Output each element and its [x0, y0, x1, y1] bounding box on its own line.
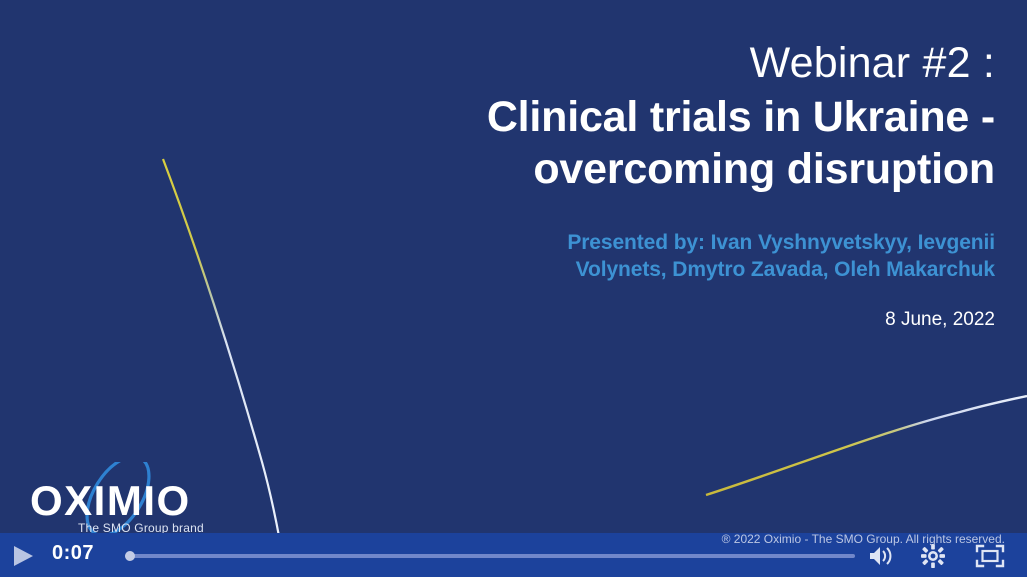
fullscreen-button[interactable] — [975, 544, 1001, 568]
copyright-notice: ® 2022 Oximio - The SMO Group. All right… — [722, 532, 1005, 546]
video-player: Webinar #2 : Clinical trials in Ukraine … — [0, 0, 1027, 577]
volume-button[interactable] — [868, 544, 894, 568]
slide-content: Webinar #2 : Clinical trials in Ukraine … — [375, 42, 995, 331]
progress-bar[interactable] — [125, 551, 855, 561]
gear-icon — [921, 544, 945, 568]
fullscreen-icon — [977, 546, 1003, 566]
progress-handle[interactable] — [125, 551, 135, 561]
presentation-date: 8 June, 2022 — [375, 309, 995, 331]
page-title: Clinical trials in Ukraine - overcoming … — [375, 91, 995, 196]
current-time-label: 0:07 — [52, 542, 94, 565]
title-line-2: overcoming disruption — [375, 143, 995, 195]
play-icon — [14, 546, 33, 566]
oximio-logo: OXIMIO The SMO Group brand — [22, 462, 212, 540]
volume-icon — [870, 547, 890, 565]
progress-track[interactable] — [125, 554, 855, 558]
curve-right — [706, 396, 1027, 495]
presenters-line-1: Presented by: Ivan Vyshnyvetskyy, Ievgen… — [375, 230, 995, 257]
presenters: Presented by: Ivan Vyshnyvetskyy, Ievgen… — [375, 230, 995, 284]
settings-button[interactable] — [920, 544, 946, 568]
webinar-kicker: Webinar #2 : — [375, 42, 995, 85]
logo-wordmark: OXIMIO — [30, 477, 191, 524]
presenters-line-2: Volynets, Dmytro Zavada, Oleh Makarchuk — [375, 257, 995, 284]
title-line-1: Clinical trials in Ukraine - — [375, 91, 995, 143]
play-button[interactable] — [10, 544, 36, 568]
